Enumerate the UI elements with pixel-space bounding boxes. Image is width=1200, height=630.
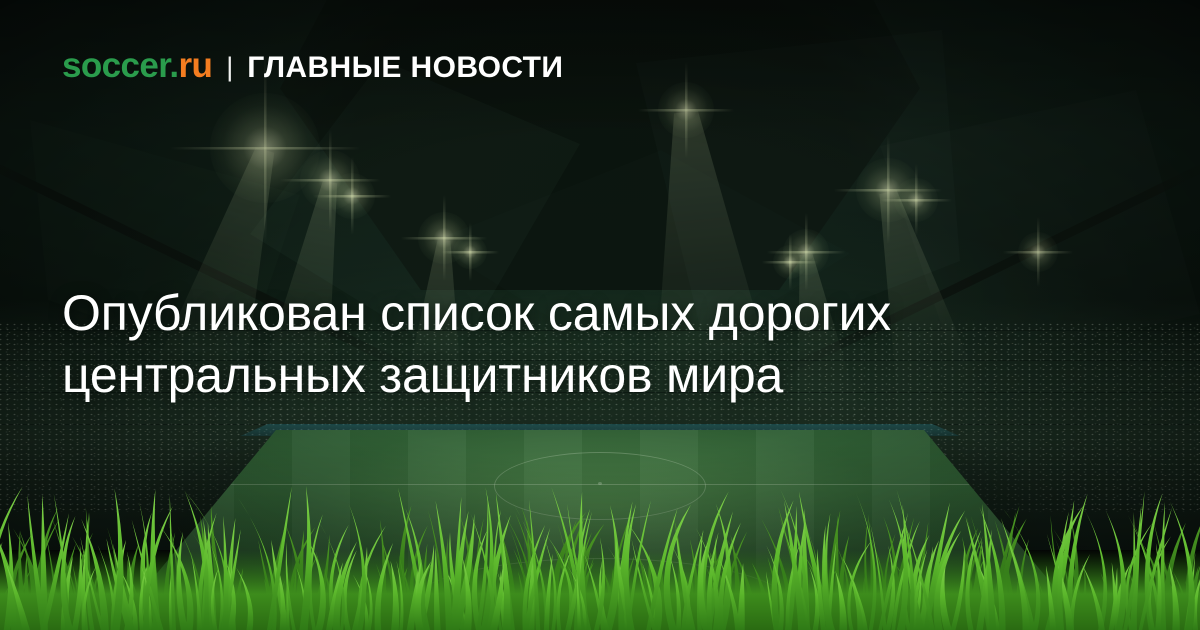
foreground-grass bbox=[0, 480, 1200, 630]
logo-word: soccer bbox=[62, 46, 169, 85]
article-headline: Опубликован список самых дорогих централ… bbox=[62, 282, 1122, 406]
header-kicker: ГЛАВНЫЕ НОВОСТИ bbox=[247, 53, 563, 83]
site-logo[interactable]: soccer.ru bbox=[62, 48, 212, 83]
header-divider: | bbox=[226, 54, 233, 81]
card-header: soccer.ru | ГЛАВНЫЕ НОВОСТИ bbox=[62, 48, 563, 83]
logo-tld: ru bbox=[178, 46, 212, 85]
news-share-card: soccer.ru | ГЛАВНЫЕ НОВОСТИ Опубликован … bbox=[0, 0, 1200, 630]
